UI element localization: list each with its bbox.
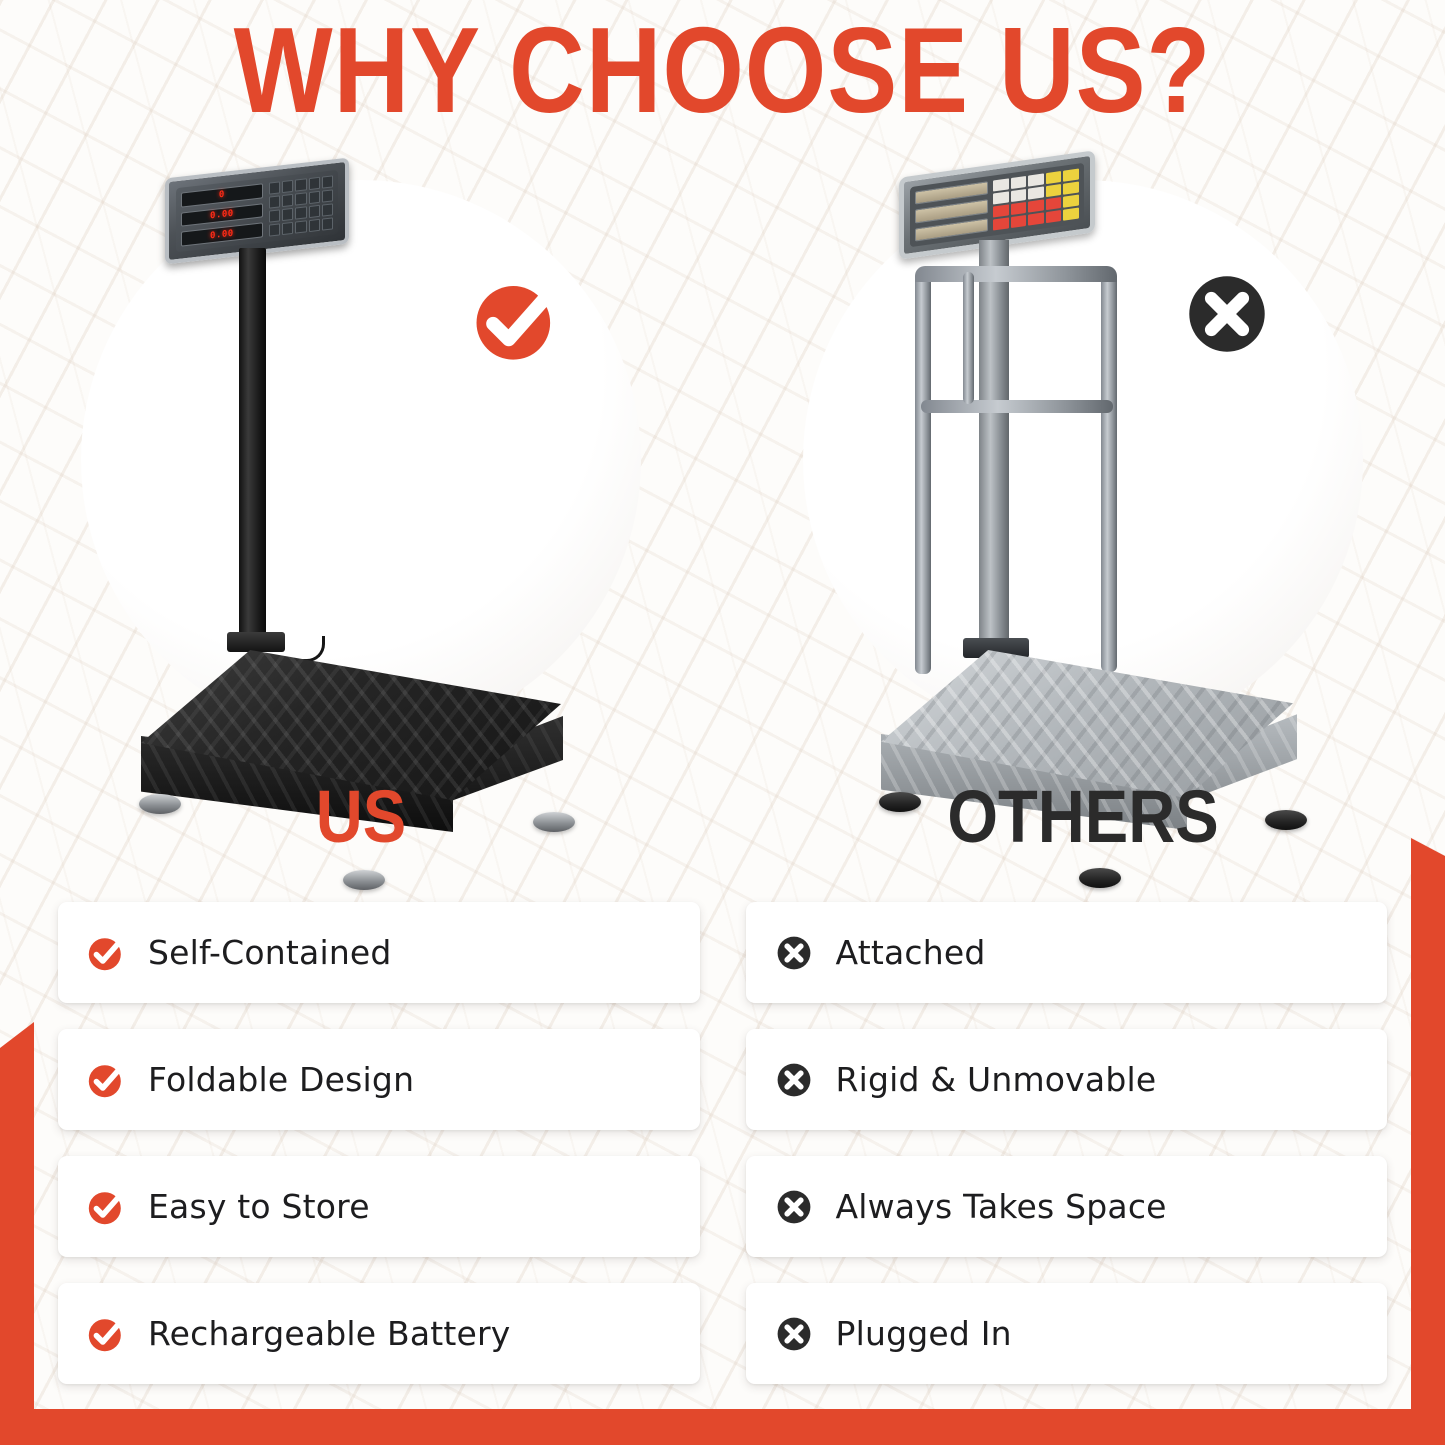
page-title: WHY CHOOSE US? <box>234 8 1212 132</box>
list-item[interactable]: Attached <box>746 902 1388 1003</box>
comparison-columns: 0 0.00 0.00 <box>0 150 1445 910</box>
handrail-top-bar <box>915 266 1117 282</box>
list-item[interactable]: Self-Contained <box>58 902 700 1003</box>
list-item[interactable]: Easy to Store <box>58 1156 700 1257</box>
cross-circle-icon <box>774 1187 814 1227</box>
feature-lists: Self-Contained Foldable Design Easy to S… <box>0 902 1445 1402</box>
scale-foot-others <box>1079 868 1121 888</box>
list-item[interactable]: Always Takes Space <box>746 1156 1388 1257</box>
infographic-page: WHY CHOOSE US? 0 0.00 0.00 <box>0 0 1445 1445</box>
feature-list-us: Self-Contained Foldable Design Easy to S… <box>58 902 700 1402</box>
list-item[interactable]: Foldable Design <box>58 1029 700 1130</box>
silver-scale-illustration <box>803 180 1363 740</box>
list-item[interactable]: Rechargeable Battery <box>58 1283 700 1384</box>
title-bar: WHY CHOOSE US? <box>0 8 1445 132</box>
list-item-label: Rechargeable Battery <box>148 1314 511 1353</box>
list-item[interactable]: Plugged In <box>746 1283 1388 1384</box>
list-item-label: Always Takes Space <box>836 1187 1167 1226</box>
black-scale-illustration: 0 0.00 0.00 <box>81 180 641 740</box>
keypad-others <box>993 168 1079 230</box>
cross-circle-icon <box>774 1060 814 1100</box>
product-photo-others <box>803 180 1363 740</box>
column-heading-others: OTHERS <box>765 780 1400 854</box>
product-photo-us: 0 0.00 0.00 <box>81 180 641 740</box>
cross-circle-icon <box>1181 268 1273 360</box>
handrail-mid-bar <box>921 400 1113 413</box>
list-item[interactable]: Rigid & Unmovable <box>746 1029 1388 1130</box>
led-row-3: 0.00 <box>181 223 263 247</box>
keypad-us <box>269 175 333 236</box>
scale-foot-us <box>343 870 385 890</box>
list-item-label: Easy to Store <box>148 1187 370 1226</box>
handrail-inner-bar <box>963 272 974 404</box>
list-item-label: Plugged In <box>836 1314 1012 1353</box>
list-item-label: Foldable Design <box>148 1060 414 1099</box>
cross-circle-icon <box>774 933 814 973</box>
scale-post-others <box>979 240 1009 650</box>
column-us: 0 0.00 0.00 <box>0 150 722 910</box>
check-circle-icon <box>86 933 126 973</box>
list-item-label: Self-Contained <box>148 933 392 972</box>
check-circle-icon <box>86 1314 126 1354</box>
check-circle-icon <box>86 1187 126 1227</box>
handrail-right-post <box>1101 272 1117 672</box>
scale-post-us <box>239 248 266 648</box>
handrail-left-post <box>915 272 931 674</box>
column-others: OTHERS <box>722 150 1444 910</box>
check-circle-icon <box>86 1060 126 1100</box>
list-item-label: Attached <box>836 933 986 972</box>
feature-list-others: Attached Rigid & Unmovable Always Takes … <box>746 902 1388 1402</box>
column-heading-us: US <box>43 780 678 854</box>
cross-circle-icon <box>774 1314 814 1354</box>
list-item-label: Rigid & Unmovable <box>836 1060 1157 1099</box>
check-circle-icon <box>471 275 563 367</box>
